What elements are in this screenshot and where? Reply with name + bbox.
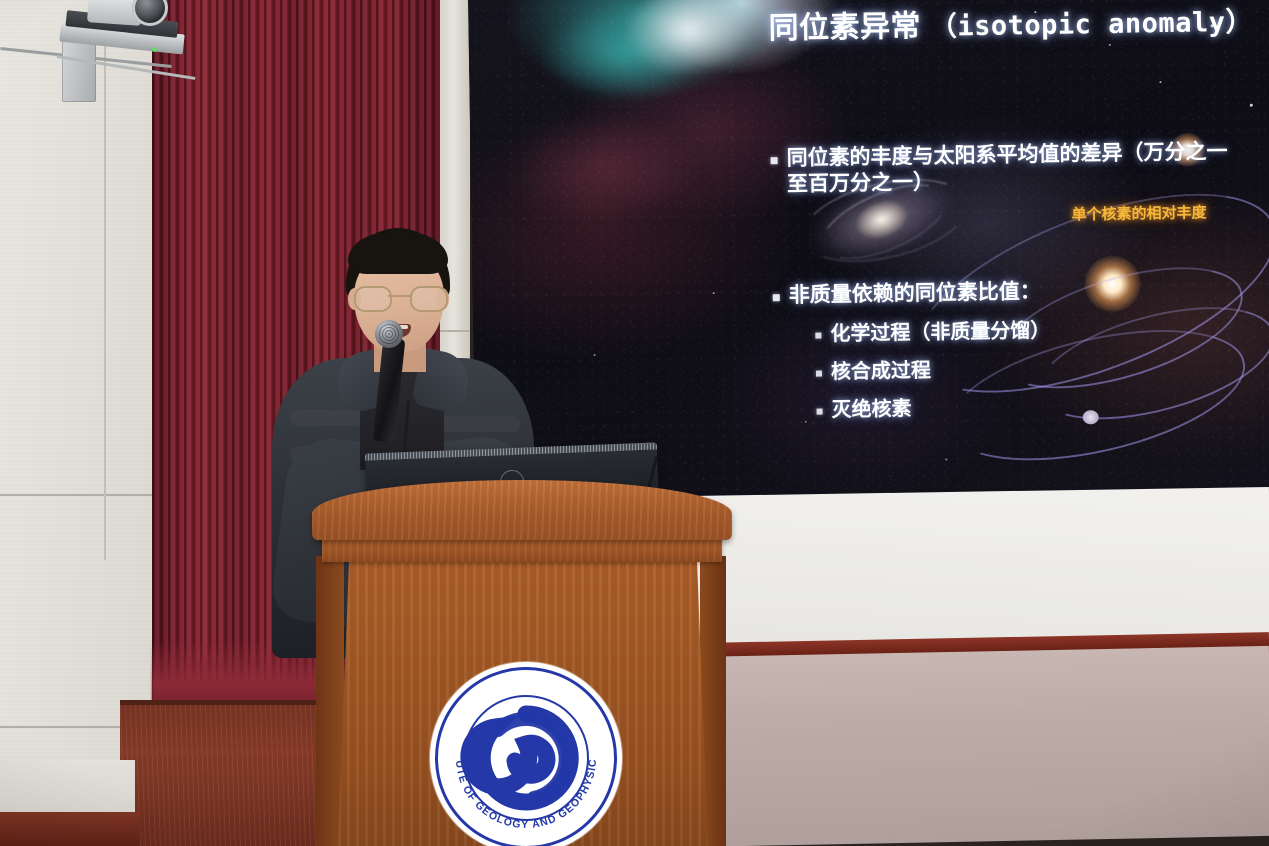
camera-status-led	[152, 47, 157, 52]
emblem-artwork: 中国科学院地质与地球物理研究所 INSTITUTE OF GEOLOGY AND…	[430, 662, 622, 846]
slide-title-english: （isotopic anomaly）	[930, 7, 1254, 43]
sub-bullet-2: 核合成过程	[816, 354, 1204, 384]
sub-bullet-marker-icon	[815, 332, 821, 338]
lecture-photo-scene: 同位素异常 （isotopic anomaly） 同位素的丰度与太阳系平均值的差…	[0, 0, 1269, 846]
bullet-2-text: 非质量依赖的同位素比值：	[789, 279, 1041, 309]
camera-bracket-vertical	[62, 38, 96, 102]
bullet-1: 同位素的丰度与太阳系平均值的差异（万分之一至百万分之一） 单个核素的相对丰度	[770, 139, 1241, 198]
sub-bullet-1-text: 化学过程（非质量分馏）	[830, 319, 1050, 346]
bullet-marker-icon	[771, 157, 778, 164]
eyeglasses-icon	[354, 286, 446, 308]
bullet-marker-icon	[773, 294, 780, 301]
sub-bullet-3-text: 灭绝核素	[831, 397, 911, 422]
wall-seam-horizontal-lower	[0, 726, 140, 728]
institute-emblem: 中国科学院地质与地球物理研究所 INSTITUTE OF GEOLOGY AND…	[430, 662, 622, 846]
emblem-chinese-text: 中国科学院地质与地球物理研究所	[430, 662, 613, 676]
podium-top-surface	[312, 480, 732, 540]
sub-bullet-marker-icon	[816, 370, 822, 376]
security-camera	[0, 0, 230, 130]
highlight-note: 单个核素的相对丰度	[1071, 201, 1206, 224]
bullet-1-text: 同位素的丰度与太阳系平均值的差异（万分之一至百万分之一）	[786, 139, 1241, 197]
wall-seam-horizontal	[0, 494, 152, 496]
floor-foreground-strip	[0, 812, 140, 846]
sub-bullet-1: 化学过程（非质量分馏）	[815, 316, 1203, 346]
bullet-2: 非质量依赖的同位素比值： 化学过程（非质量分馏） 核合成过程 灭绝核素	[773, 276, 1205, 422]
hair-fringe	[348, 232, 448, 274]
slide-title-chinese: 同位素异常	[768, 10, 921, 45]
sub-bullet-2-text: 核合成过程	[831, 358, 931, 384]
sub-bullet-marker-icon	[817, 408, 823, 414]
svg-text:中国科学院地质与地球物理研究所: 中国科学院地质与地球物理研究所	[430, 662, 613, 676]
